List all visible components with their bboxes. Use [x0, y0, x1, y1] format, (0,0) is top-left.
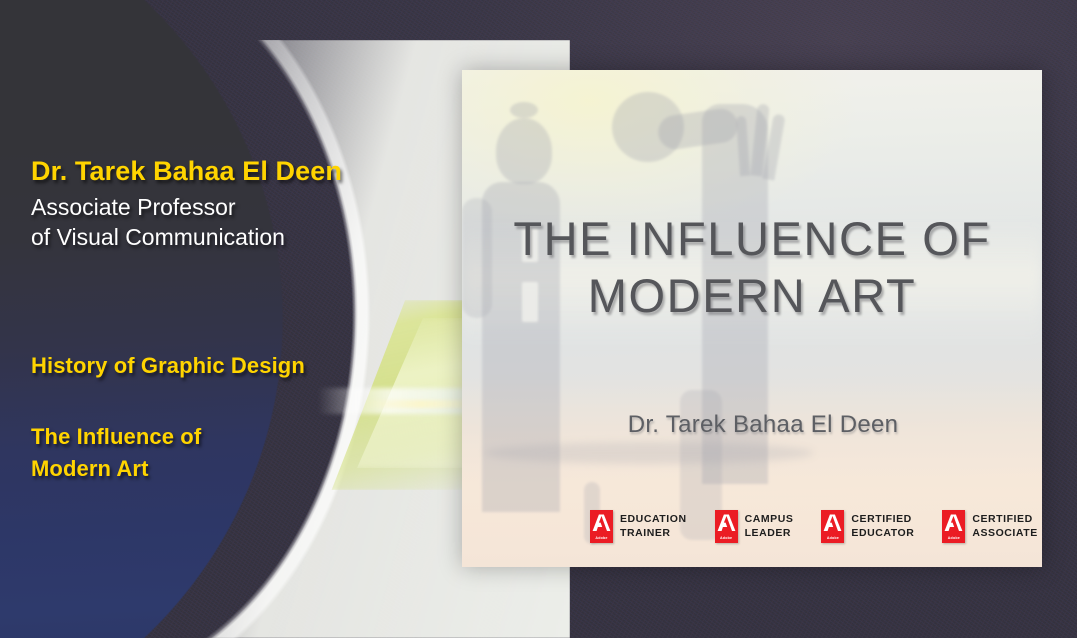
badge-label-line-2: LEADER — [745, 527, 791, 539]
adobe-logo-icon: Adobe — [942, 510, 965, 543]
ghost-figure-left-head — [496, 118, 552, 184]
adobe-wordmark: Adobe — [590, 537, 613, 541]
adobe-wordmark: Adobe — [942, 537, 965, 541]
badge-label-line-2: EDUCATOR — [851, 527, 914, 539]
badge-label-line-1: EDUCATION — [620, 513, 687, 525]
badge-campus-leader: Adobe CAMPUS LEADER — [715, 510, 794, 543]
lecture-title-line-1: The Influence of — [31, 421, 201, 453]
lecture-title-line-2: Modern Art — [31, 453, 201, 485]
adobe-wordmark: Adobe — [821, 537, 844, 541]
badge-certified-associate: Adobe CERTIFIED ASSOCIATE — [942, 510, 1037, 543]
slide-title-line-1: THE INFLUENCE OF — [462, 210, 1042, 267]
ghost-figure-left-cap — [510, 102, 538, 118]
badge-label-line-2: TRAINER — [620, 527, 671, 539]
lecture-block: The Influence of Modern Art — [31, 421, 201, 485]
badge-label: CERTIFIED ASSOCIATE — [972, 513, 1037, 539]
slide-card: THE INFLUENCE OF MODERN ART Dr. Tarek Ba… — [462, 70, 1042, 567]
badge-label: EDUCATION TRAINER — [620, 513, 687, 539]
badge-label-line-2: ASSOCIATE — [972, 527, 1037, 539]
slide-title: THE INFLUENCE OF MODERN ART — [462, 210, 1042, 325]
speaker-name: Dr. Tarek Bahaa El Deen — [31, 156, 342, 187]
badge-label: CERTIFIED EDUCATOR — [851, 513, 914, 539]
slide-byline: Dr. Tarek Bahaa El Deen — [462, 411, 1042, 439]
ghost-shadow-streak — [484, 442, 814, 464]
adobe-logo-icon: Adobe — [821, 510, 844, 543]
adobe-badges-row: Adobe EDUCATION TRAINER Adobe CAMPUS LEA… — [590, 510, 1038, 543]
badge-education-trainer: Adobe EDUCATION TRAINER — [590, 510, 687, 543]
badge-label-line-1: CAMPUS — [745, 513, 794, 525]
badge-certified-educator: Adobe CERTIFIED EDUCATOR — [821, 510, 914, 543]
badge-label-line-1: CERTIFIED — [972, 513, 1032, 525]
course-title: History of Graphic Design — [31, 353, 305, 379]
badge-label-line-1: CERTIFIED — [851, 513, 911, 525]
badge-label: CAMPUS LEADER — [745, 513, 794, 539]
course-block: History of Graphic Design — [31, 353, 305, 379]
ghost-figure-right-head — [612, 92, 684, 162]
adobe-logo-icon: Adobe — [715, 510, 738, 543]
speaker-role-line-2: of Visual Communication — [31, 223, 342, 253]
presentation-stage: Dr. Tarek Bahaa El Deen Associate Profes… — [0, 0, 1077, 638]
speaker-role-line-1: Associate Professor — [31, 193, 342, 223]
slide-title-line-2: MODERN ART — [462, 267, 1042, 324]
adobe-logo-icon: Adobe — [590, 510, 613, 543]
speaker-block: Dr. Tarek Bahaa El Deen Associate Profes… — [31, 156, 342, 253]
adobe-wordmark: Adobe — [715, 537, 738, 541]
